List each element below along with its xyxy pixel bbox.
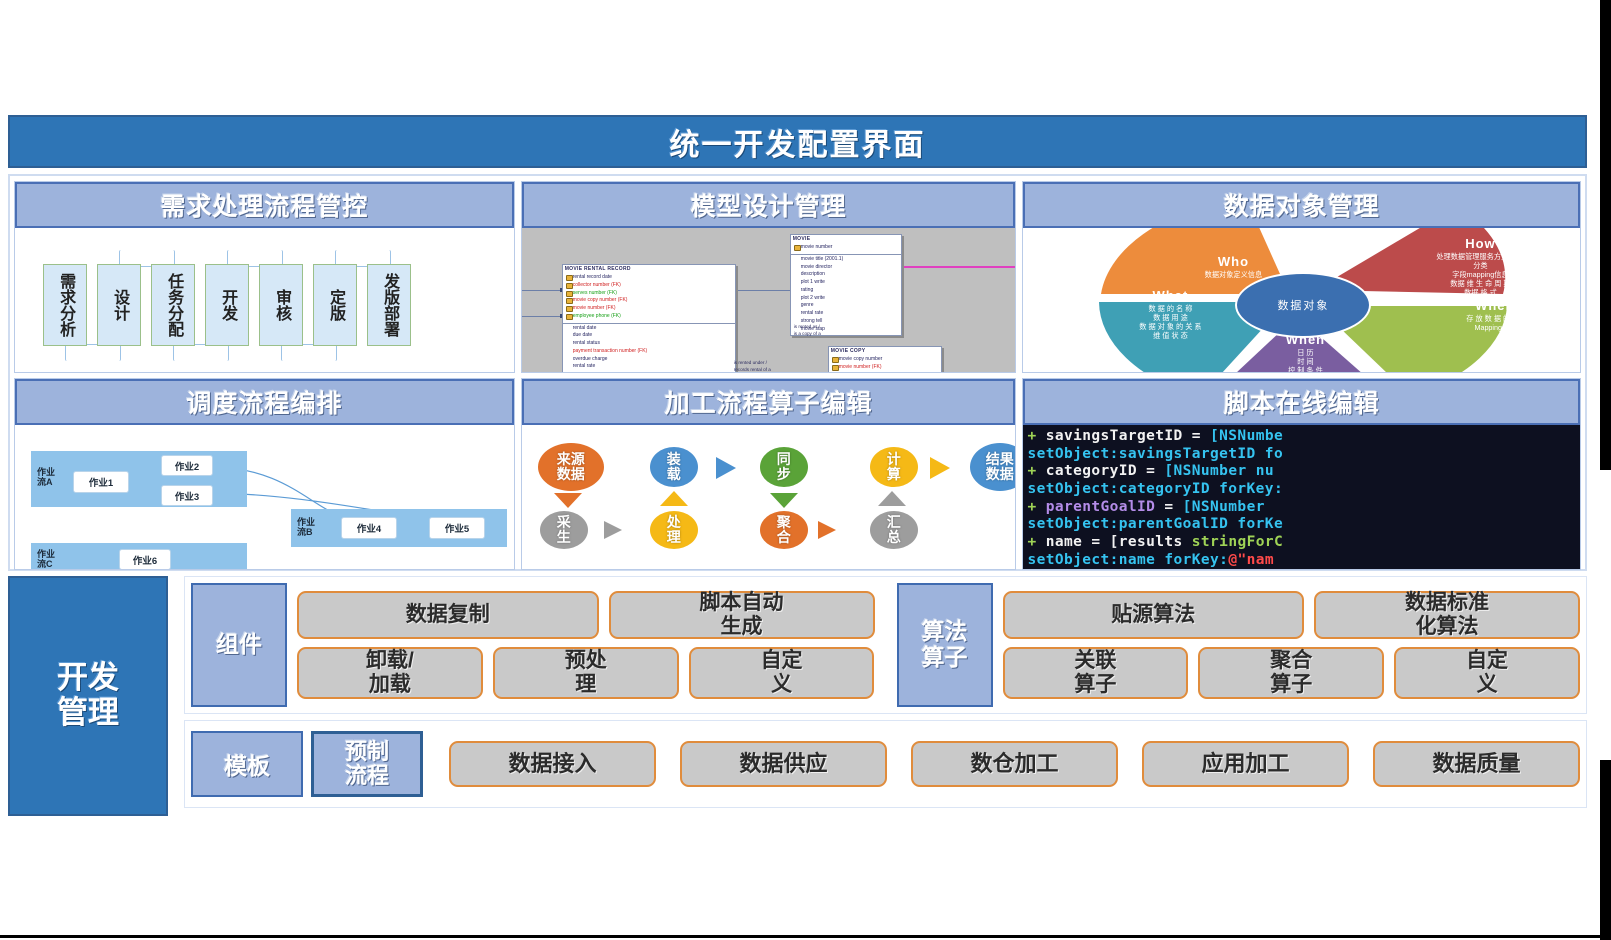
panel-model-body: MOVIE RENTAL RECORD rental record date c… xyxy=(522,228,1016,372)
algorithm-chip[interactable]: 关联 算子 xyxy=(1003,647,1189,699)
chip-row: 数据复制 脚本自动 生成 xyxy=(297,591,875,639)
template-chip[interactable]: 数据质量 xyxy=(1373,741,1580,787)
panel-operator-title: 加工流程算子编辑 xyxy=(665,384,873,420)
operator-node-load[interactable]: 装 载 xyxy=(650,447,698,487)
er-table-title: MOVIE COPY xyxy=(829,347,941,355)
job-node[interactable]: 作业6 xyxy=(119,549,171,569)
er-field: movie number (FK) xyxy=(565,305,733,313)
flow-step[interactable]: 设计 xyxy=(97,264,141,346)
pie-label-line: 存 放 数 据 的 位 置 xyxy=(1427,314,1567,323)
operator-node-result[interactable]: 结果 数据 xyxy=(970,443,1016,491)
template-chip[interactable]: 应用加工 xyxy=(1142,741,1349,787)
flow-step[interactable]: 发版部署 xyxy=(367,264,411,346)
template-label-box[interactable]: 模板 xyxy=(191,731,303,797)
code-line: setObject:savingsTargetID fo xyxy=(1027,446,1578,464)
er-table[interactable]: MOVIE COPY movie copy number movie numbe… xyxy=(828,346,942,372)
er-field: rental rate xyxy=(793,310,899,318)
management-band: 开发 管理 组件 数据复制 脚本自动 生成 卸载/ 加载 预处 理 xyxy=(8,576,1587,816)
job-node[interactable]: 作业3 xyxy=(161,485,213,506)
management-title-box: 开发 管理 xyxy=(8,576,168,816)
er-key-block: movie copy number movie number (FK) xyxy=(829,355,941,372)
operator-node-compute[interactable]: 计 算 xyxy=(870,447,918,487)
template-chip[interactable]: 数据接入 xyxy=(449,741,656,787)
er-field: rental rate xyxy=(565,363,733,371)
er-link xyxy=(522,290,562,291)
operator-canvas: 来源 数据 装 载 同 步 计 算 结果 数据 采 生 处 理 聚 合 汇 总 xyxy=(522,425,1016,569)
flow-step[interactable]: 任务分配 xyxy=(151,264,195,346)
er-edge-label: is rented under / records rental of a xyxy=(734,360,771,372)
er-field: description xyxy=(793,271,899,279)
arrow-down-icon xyxy=(554,493,582,508)
er-link xyxy=(522,316,562,317)
pie-label-line: 数 据 用 途 xyxy=(1095,313,1245,322)
er-table-title: MOVIE RENTAL RECORD xyxy=(563,265,735,273)
pie-label-key: Where xyxy=(1427,298,1567,314)
algorithm-chip[interactable]: 数据标准 化算法 xyxy=(1314,591,1580,639)
er-field: movie number (FK) xyxy=(831,364,939,372)
flow-step[interactable]: 开发 xyxy=(205,264,249,346)
flow-step-label: 设计 xyxy=(111,289,127,321)
er-field: genre xyxy=(793,302,899,310)
diagram-frame: 统一开发配置界面 需求处理流程管控 xyxy=(8,115,1594,820)
panel-row-bottom: 调度流程编排 作业 流A 作业1 作业2 xyxy=(14,378,1581,570)
job-node[interactable]: 作业5 xyxy=(429,517,485,539)
pie-label-what: What 数 据 的 名 称 数 据 用 途 数 据 对 象 的 关 系 维 值… xyxy=(1095,288,1245,340)
algorithm-chip[interactable]: 自定 义 xyxy=(1394,647,1580,699)
panel-script-title: 脚本在线编辑 xyxy=(1224,384,1380,420)
job-node[interactable]: 作业2 xyxy=(161,455,213,476)
component-chip[interactable]: 预处 理 xyxy=(493,647,679,699)
pie-label-how: How 处理数据管理服务方式 策略 分类 字段mapping信息 数据 维 生 … xyxy=(1405,236,1555,306)
management-row-components: 组件 数据复制 脚本自动 生成 卸载/ 加载 预处 理 自定 义 xyxy=(184,576,1587,714)
pie-label-line: 数据 格 式 xyxy=(1405,288,1555,297)
panel-requirement-body: 需求分析 设计 任务分配 开发 审核 定版 发版部署 xyxy=(15,228,514,372)
chip-row: 贴源算法 数据标准 化算法 xyxy=(1003,591,1581,639)
arrow-down-icon xyxy=(770,493,798,508)
arrow-right-icon xyxy=(716,457,736,479)
code-line: + categoryID = [NSNumber nu xyxy=(1027,463,1578,481)
er-field: plot 2 write xyxy=(793,295,899,303)
code-line: + name = [results stringForC xyxy=(1027,534,1578,552)
swimlane-c-label: 作业 流C xyxy=(37,549,55,569)
decor-edge-right-bottom xyxy=(1600,760,1611,940)
pie-label-line: 数 据 的 名 称 xyxy=(1095,304,1245,313)
er-table[interactable]: MOVIE movie number movie title (2001.1) … xyxy=(790,234,902,336)
swimlane-a[interactable] xyxy=(31,451,247,507)
panel-script-header: 脚本在线编辑 xyxy=(1023,379,1580,425)
banner-title: 统一开发配置界面 xyxy=(670,120,926,164)
pie-label-line: 分类 xyxy=(1405,261,1555,270)
pie-label-line: 控 制 条 件 xyxy=(1235,366,1375,372)
er-key-block: movie number xyxy=(791,243,901,255)
template-chips: 数据接入 数据供应 数仓加工 应用加工 数据质量 xyxy=(431,741,1580,787)
panel-schedule-title: 调度流程编排 xyxy=(186,384,342,420)
group-algorithm-label[interactable]: 算法 算子 xyxy=(897,583,993,707)
er-key-block: rental record date collector number (FK)… xyxy=(563,273,735,324)
panel-model-title: 模型设计管理 xyxy=(691,187,847,223)
pie-label-key: What xyxy=(1095,288,1245,304)
er-field: plot 1 write xyxy=(793,279,899,287)
flow-step-label: 任务分配 xyxy=(165,273,181,337)
pie-chart: Who 数据对象定义信息 How 处理数据管理服务方式 策略 分类 字段mapp… xyxy=(1023,228,1580,372)
code-line: setObject:parentGoalID forKe xyxy=(1027,516,1578,534)
panel-schedule-body: 作业 流A 作业1 作业2 作业3 作业 流B 作业4 作业5 作业 流C 作业… xyxy=(15,425,514,569)
er-link-highlight xyxy=(887,266,1016,268)
template-chip[interactable]: 数仓加工 xyxy=(911,741,1118,787)
template-row: 模板 预制 流程 数据接入 数据供应 数仓加工 应用加工 数据质量 xyxy=(191,731,1580,797)
flow-step[interactable]: 需求分析 xyxy=(43,264,87,346)
panel-row-top: 需求处理流程管控 需求分析 设计 任务分配 开发 xyxy=(14,181,1581,373)
flow-step-label: 发版部署 xyxy=(381,273,397,337)
work-area: 需求处理流程管控 需求分析 设计 任务分配 开发 xyxy=(8,174,1587,571)
panel-operator-editor[interactable]: 加工流程算子编辑 来源 数据 装 载 同 步 计 算 结果 数据 采 生 处 理… xyxy=(521,378,1017,570)
code-editor[interactable]: + savingsTargetID = [NSNumbesetObject:sa… xyxy=(1023,425,1580,569)
operator-node-process[interactable]: 处 理 xyxy=(650,511,698,549)
arrow-up-icon xyxy=(660,491,688,506)
code-line: setObject:name forKey:@"nam xyxy=(1027,552,1578,569)
er-field: movie title (2001.1) xyxy=(793,256,899,264)
group-components: 组件 数据复制 脚本自动 生成 卸载/ 加载 预处 理 自定 义 xyxy=(191,583,875,707)
er-field: employee phone (FK) xyxy=(565,313,733,321)
component-chip[interactable]: 自定 义 xyxy=(689,647,875,699)
component-chip[interactable]: 数据复制 xyxy=(297,591,599,639)
job-node[interactable]: 作业1 xyxy=(73,471,129,493)
group-algorithm-chips: 贴源算法 数据标准 化算法 关联 算子 聚合 算子 自定 义 xyxy=(993,583,1581,707)
er-field: movie copy number xyxy=(831,356,939,364)
flow-step[interactable]: 审核 xyxy=(259,264,303,346)
er-field: serves number (FK) xyxy=(565,290,733,298)
swimlane-a-label: 作业 流A xyxy=(37,467,55,488)
panel-operator-body: 来源 数据 装 载 同 步 计 算 结果 数据 采 生 处 理 聚 合 汇 总 xyxy=(522,425,1016,569)
code-line: + parentGoalID = [NSNumber xyxy=(1027,499,1578,517)
operator-node-source[interactable]: 来源 数据 xyxy=(538,443,604,491)
panel-script-body: + savingsTargetID = [NSNumbesetObject:sa… xyxy=(1023,425,1580,569)
flow-connector xyxy=(65,344,121,361)
pie-label-line: 日 历 xyxy=(1235,348,1375,357)
pie-label-line: 处理数据管理服务方式 策略 xyxy=(1405,252,1555,261)
operator-node-sync[interactable]: 同 步 xyxy=(760,447,808,487)
pie-label-line: 数据 维 生 命 周 期 xyxy=(1405,279,1555,288)
flow-connector xyxy=(281,344,337,361)
arrow-right-icon xyxy=(604,521,622,539)
panel-data-object-header: 数据对象管理 xyxy=(1023,182,1580,228)
er-field: movie number xyxy=(793,244,899,252)
er-table[interactable]: MOVIE RENTAL RECORD rental record date c… xyxy=(562,264,736,372)
pie-center-label: 数据对象 xyxy=(1235,272,1371,338)
chip-row: 关联 算子 聚合 算子 自定 义 xyxy=(1003,647,1581,699)
schedule-canvas: 作业 流A 作业1 作业2 作业3 作业 流B 作业4 作业5 作业 流C 作业… xyxy=(15,425,514,569)
group-algorithm: 算法 算子 贴源算法 数据标准 化算法 关联 算子 聚合 算子 自定 义 xyxy=(897,583,1581,707)
er-field: overdue charge xyxy=(565,356,733,364)
er-field: rating xyxy=(793,287,899,295)
pie-label-line: 时 间 xyxy=(1235,357,1375,366)
algorithm-chip[interactable]: 聚合 算子 xyxy=(1198,647,1384,699)
arrow-up-icon xyxy=(878,491,906,506)
er-field: due date xyxy=(565,332,733,340)
management-title: 开发 管理 xyxy=(57,661,119,730)
panel-operator-header: 加工流程算子编辑 xyxy=(522,379,1016,425)
er-link xyxy=(735,290,791,291)
pie-label-line: Mapping 关 联 xyxy=(1427,323,1567,332)
er-table-title: MOVIE xyxy=(791,235,901,243)
flow-step-label: 开发 xyxy=(219,289,235,321)
pie-label-line: 数 据 对 象 的 关 系 xyxy=(1095,322,1245,331)
panel-requirement-header: 需求处理流程管控 xyxy=(15,182,514,228)
component-chip[interactable]: 卸载/ 加载 xyxy=(297,647,483,699)
er-field: rental status xyxy=(565,340,733,348)
panel-data-object[interactable]: 数据对象管理 xyxy=(1022,181,1581,373)
flow-step[interactable]: 定版 xyxy=(313,264,357,346)
component-chip[interactable]: 脚本自动 生成 xyxy=(609,591,875,639)
panel-schedule-flow[interactable]: 调度流程编排 作业 流A 作业1 作业2 xyxy=(14,378,515,570)
pie-label-when: When 日 历 时 间 控 制 条 件 xyxy=(1235,332,1375,372)
er-edge-label: is rented as / is a copy of a xyxy=(794,324,821,338)
group-components-chips: 数据复制 脚本自动 生成 卸载/ 加载 预处 理 自定 义 xyxy=(287,583,875,707)
flow-step-label: 审核 xyxy=(273,289,289,321)
job-node[interactable]: 作业4 xyxy=(341,517,397,539)
pie-label-key: How xyxy=(1405,236,1555,252)
operator-node-aggregate[interactable]: 聚 合 xyxy=(760,511,808,549)
group-components-label[interactable]: 组件 xyxy=(191,583,287,707)
operator-node-collect[interactable]: 采 生 xyxy=(540,511,588,549)
er-field: payment transaction number (FK) xyxy=(565,348,733,356)
management-content: 组件 数据复制 脚本自动 生成 卸载/ 加载 预处 理 自定 义 xyxy=(184,576,1587,816)
flow-step-label: 定版 xyxy=(327,289,343,321)
preset-flow-box[interactable]: 预制 流程 xyxy=(311,731,423,797)
er-field-block: rental date due date rental status payme… xyxy=(563,324,735,373)
panel-data-object-title: 数据对象管理 xyxy=(1224,187,1380,223)
decor-edge-right-top xyxy=(1600,0,1611,470)
er-field: collector number (FK) xyxy=(565,282,733,290)
arrow-right-icon xyxy=(818,521,836,539)
swimlane-b-label: 作业 流B xyxy=(297,517,315,538)
pie-label-where: Where 存 放 数 据 的 位 置 Mapping 关 联 xyxy=(1427,298,1567,332)
er-field: rental record date xyxy=(565,274,733,282)
panel-data-object-body: Who 数据对象定义信息 How 处理数据管理服务方式 策略 分类 字段mapp… xyxy=(1023,228,1580,372)
requirement-flow-canvas: 需求分析 设计 任务分配 开发 审核 定版 发版部署 xyxy=(33,236,506,368)
decor-edge-bottom xyxy=(0,935,1600,938)
panel-model-header: 模型设计管理 xyxy=(522,182,1016,228)
flow-connector xyxy=(173,344,229,361)
pie-label-key: Who xyxy=(1153,254,1313,270)
code-line: + savingsTargetID = [NSNumbe xyxy=(1027,428,1578,446)
panel-requirement-title: 需求处理流程管控 xyxy=(160,187,368,223)
arrow-right-icon xyxy=(930,457,950,479)
er-diagram-canvas: MOVIE RENTAL RECORD rental record date c… xyxy=(522,228,1016,372)
pie-label-line: 维 值 状 态 xyxy=(1095,331,1245,340)
chip-row: 卸载/ 加载 预处 理 自定 义 xyxy=(297,647,875,699)
er-field: movie director xyxy=(793,264,899,272)
pie-label-line: 字段mapping信息 xyxy=(1405,270,1555,279)
management-row-templates: 模板 预制 流程 数据接入 数据供应 数仓加工 应用加工 数据质量 xyxy=(184,720,1587,808)
main-banner: 统一开发配置界面 xyxy=(8,115,1587,168)
er-field: rental date xyxy=(565,325,733,333)
panel-model-design[interactable]: 模型设计管理 xyxy=(521,181,1017,373)
panel-requirement-flow[interactable]: 需求处理流程管控 需求分析 设计 任务分配 开发 xyxy=(14,181,515,373)
er-field: movie copy number (FK) xyxy=(565,297,733,305)
algorithm-chip[interactable]: 贴源算法 xyxy=(1003,591,1305,639)
code-line: setObject:categoryID forKey: xyxy=(1027,481,1578,499)
operator-node-summary[interactable]: 汇 总 xyxy=(870,511,918,549)
template-chip[interactable]: 数据供应 xyxy=(680,741,887,787)
panel-schedule-header: 调度流程编排 xyxy=(15,379,514,425)
flow-step-label: 需求分析 xyxy=(57,273,73,337)
panel-script-editor[interactable]: 脚本在线编辑 + savingsTargetID = [NSNumbesetOb… xyxy=(1022,378,1581,570)
